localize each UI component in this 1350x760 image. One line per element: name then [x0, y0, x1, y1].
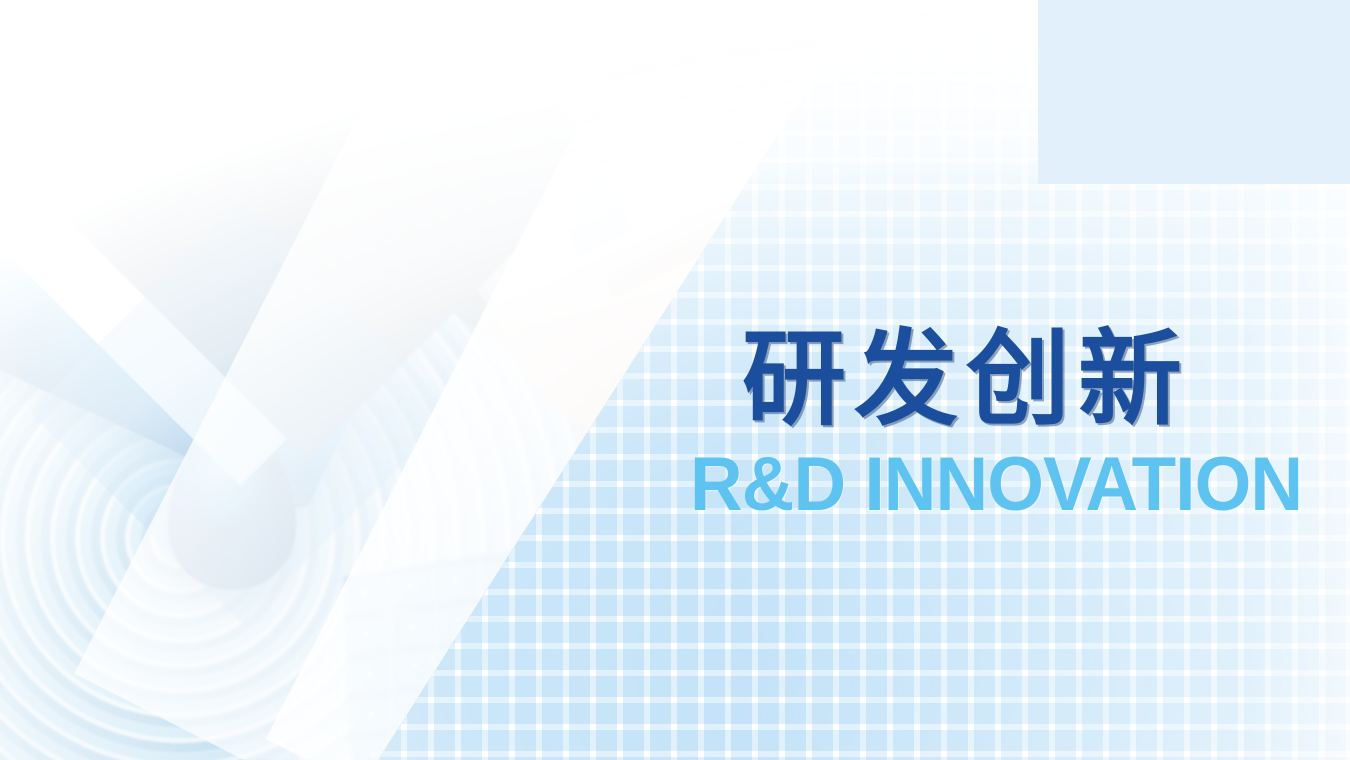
page-subtitle-english: R&D INNOVATION — [690, 446, 1316, 524]
rd-innovation-banner: 恒瑞 研发创新 R&D INNOVATION — [0, 0, 1350, 760]
headline-block: 研发创新 R&D INNOVATION — [742, 324, 1342, 524]
logo-panel: 恒瑞 — [1038, 0, 1350, 184]
page-title-chinese: 研发创新 — [742, 324, 1342, 436]
